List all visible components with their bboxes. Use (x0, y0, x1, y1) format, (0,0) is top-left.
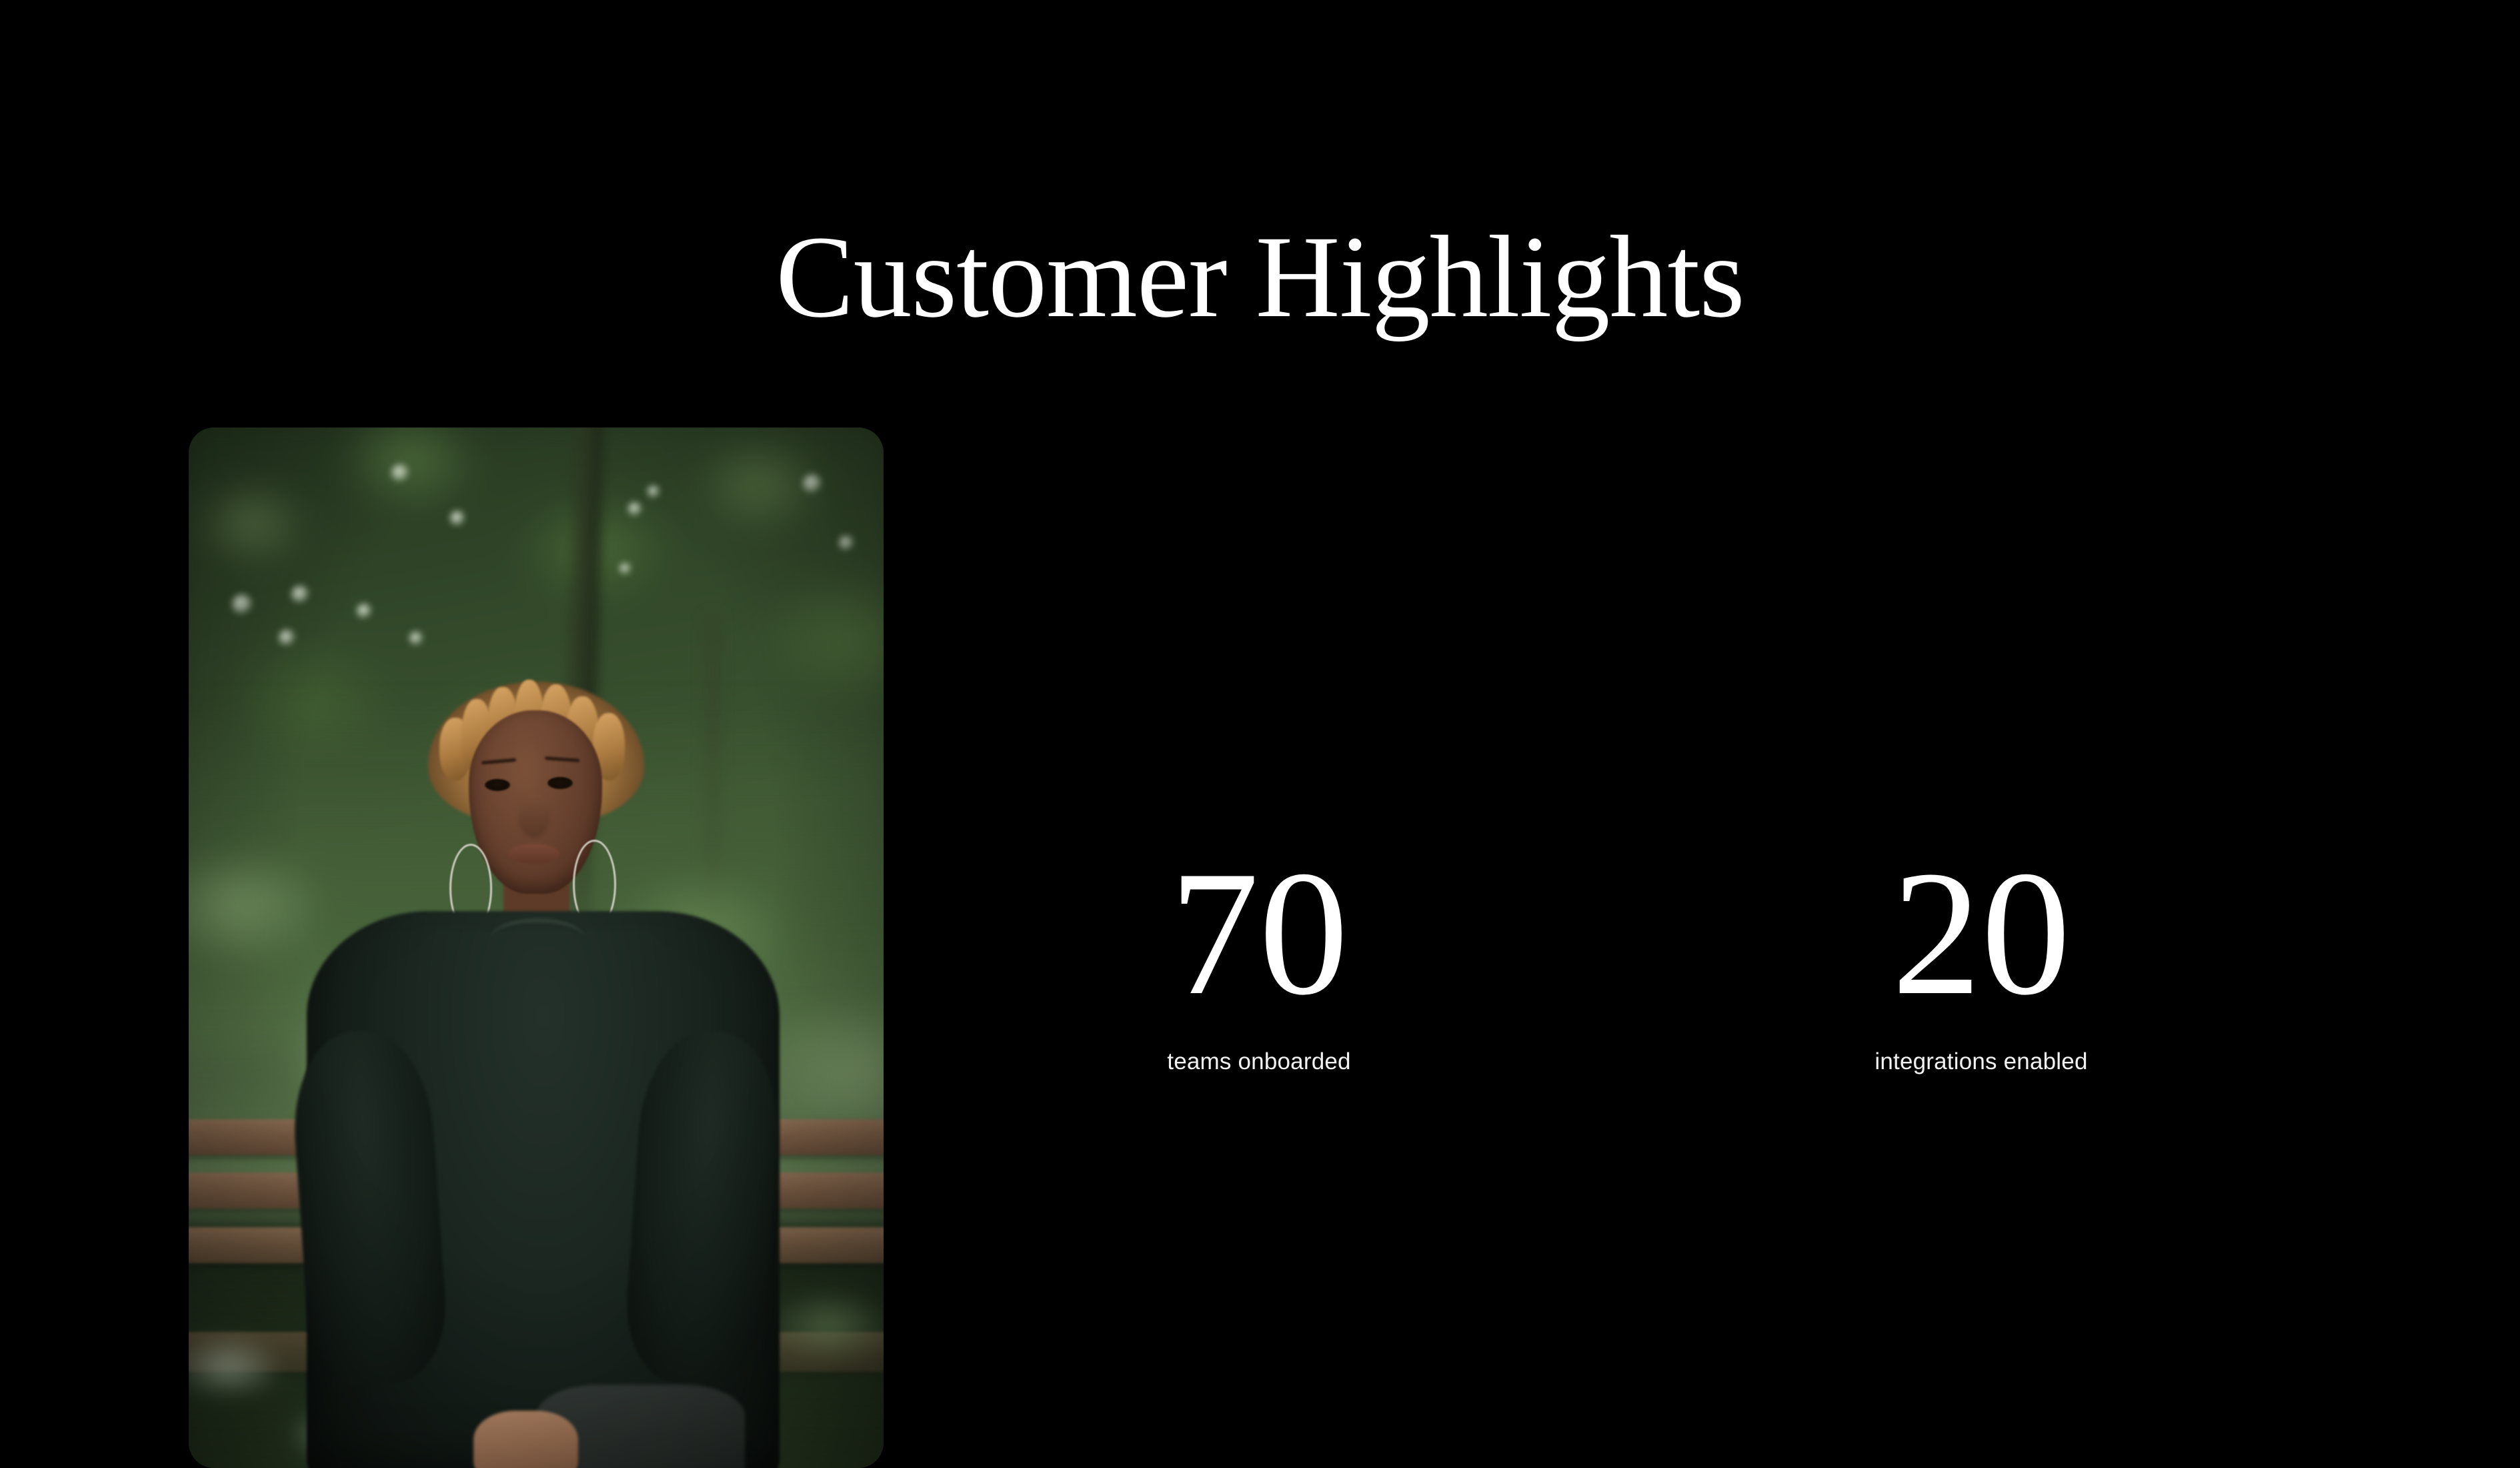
portrait-photo-card (189, 428, 884, 1468)
stat-label: integrations enabled (1748, 1048, 2215, 1076)
stat-label: teams onboarded (1026, 1048, 1492, 1076)
page-title: Customer Highlights (0, 219, 2520, 336)
stat-value: 70 (1026, 844, 1492, 1022)
shirt-collar (491, 918, 585, 958)
stat-block-integrations-enabled: 20 integrations enabled (1748, 844, 2215, 1076)
portrait-subject (189, 428, 884, 1468)
stat-value: 20 (1748, 844, 2215, 1022)
nose (518, 794, 550, 838)
stat-block-teams-onboarded: 70 teams onboarded (1026, 844, 1492, 1076)
portrait-photo (189, 428, 884, 1468)
lips (508, 844, 559, 864)
hands (473, 1411, 577, 1468)
eye-right (547, 777, 573, 789)
